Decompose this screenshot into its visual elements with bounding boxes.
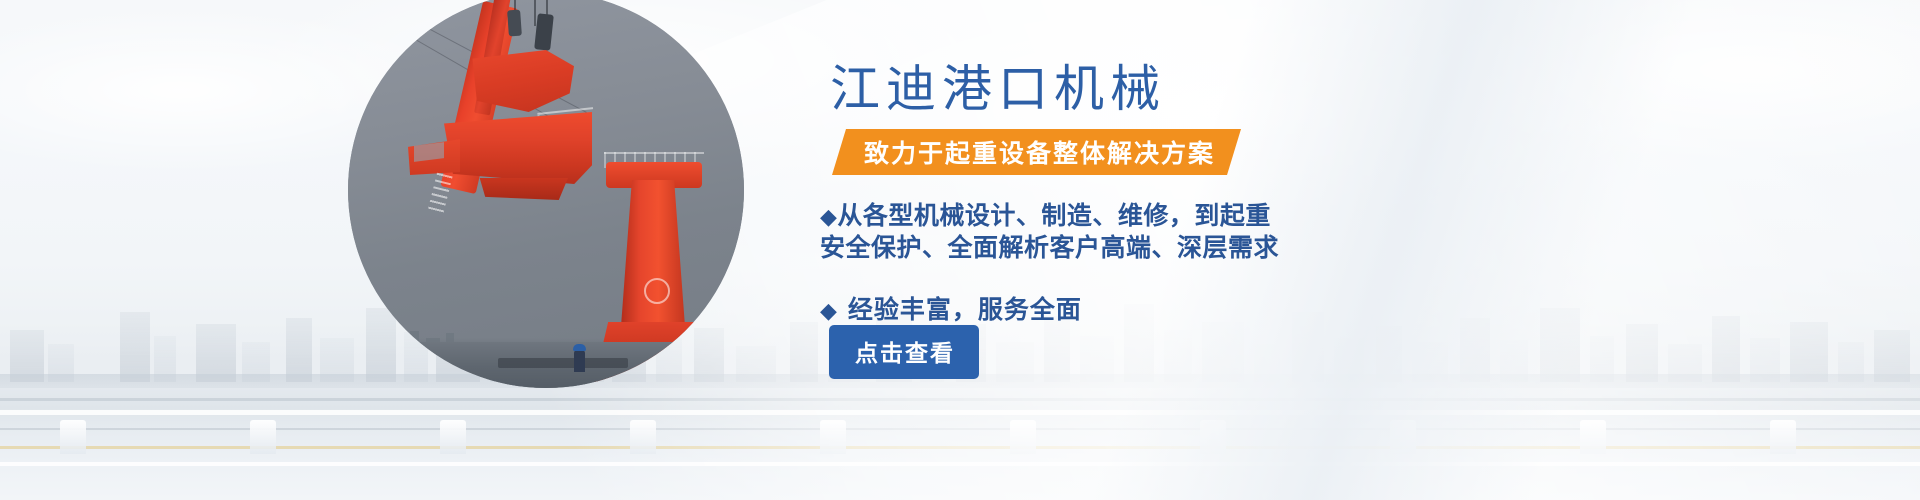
crane-counterweight-body bbox=[444, 112, 592, 184]
diamond-icon: ◆ bbox=[820, 204, 837, 229]
feature-bullet-1: ◆从各型机械设计、制造、维修，到起重 安全保护、全面解析客户高端、深层需求 bbox=[820, 200, 1580, 264]
banner-content: 江迪港口机械 致力于起重设备整体解决方案 ◆从各型机械设计、制造、维修，到起重 … bbox=[820, 0, 1580, 500]
photo-worker-helmet bbox=[573, 344, 586, 351]
feature-bullet-2-text: 经验丰富，服务全面 bbox=[848, 296, 1082, 324]
tagline-text: 致力于起重设备整体解决方案 bbox=[864, 134, 1215, 170]
photo-worker bbox=[574, 350, 585, 372]
company-headline: 江迪港口机械 bbox=[830, 62, 1166, 117]
feature-bullet-1-line-1: ◆从各型机械设计、制造、维修，到起重 bbox=[820, 200, 1580, 232]
hero-banner: 江迪港口机械 致力于起重设备整体解决方案 ◆从各型机械设计、制造、维修，到起重 … bbox=[0, 0, 1920, 500]
second-crane-emblem bbox=[644, 278, 670, 304]
feature-bullet-1-text-1: 从各型机械设计、制造、维修，到起重 bbox=[837, 202, 1271, 230]
crane-underside bbox=[476, 178, 568, 200]
hoist-line-1 bbox=[534, 0, 536, 26]
feature-bullet-list: ◆从各型机械设计、制造、维修，到起重 安全保护、全面解析客户高端、深层需求 ◆经… bbox=[820, 200, 1580, 326]
photo-barge bbox=[498, 358, 628, 368]
view-details-button[interactable]: 点击查看 bbox=[829, 325, 979, 379]
hook-block-secondary bbox=[507, 10, 522, 37]
feature-bullet-1-line-2: 安全保护、全面解析客户高端、深层需求 bbox=[820, 232, 1580, 264]
feature-bullet-2: ◆经验丰富，服务全面 bbox=[820, 290, 1580, 326]
crane-photo-circle bbox=[348, 0, 744, 388]
tagline-ribbon: 致力于起重设备整体解决方案 bbox=[832, 129, 1241, 175]
diamond-icon: ◆ bbox=[820, 298, 838, 323]
